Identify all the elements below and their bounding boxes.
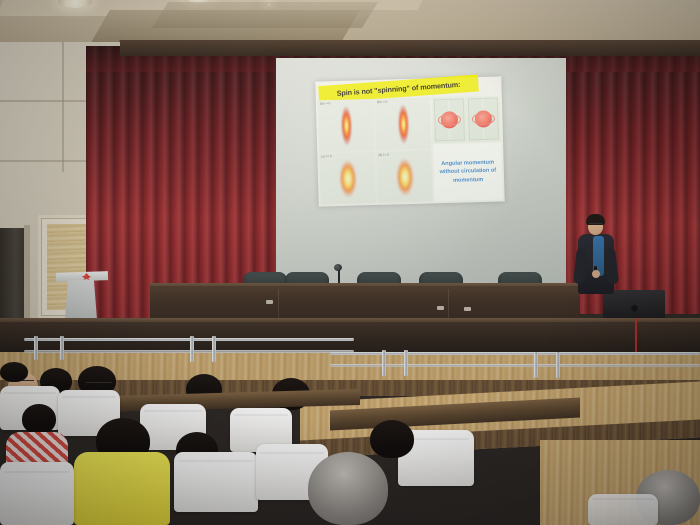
spin-ring-icon	[438, 114, 461, 127]
audience-head	[22, 404, 56, 434]
heatmap-cell-label: (d) t = 0	[378, 153, 389, 157]
spin-diagram-panels	[432, 95, 501, 143]
stage-railing-bar	[24, 338, 354, 341]
spin-ring-icon	[472, 113, 495, 126]
heatmap-cell-label: (c) t = 0	[321, 154, 331, 158]
table-clip	[437, 306, 444, 310]
railing-post	[404, 350, 408, 376]
audience-glasses-icon	[86, 382, 112, 385]
lecture-hall-photo: Spin is not "spinning" of momentum: (a) …	[0, 0, 700, 525]
heatmap-cell: (a) t = 0	[318, 99, 374, 152]
wall-panel-line	[62, 42, 64, 172]
heatmap-cell: (d) t = 0	[376, 150, 432, 203]
curtain-pelmet	[120, 40, 700, 56]
audience-chair-back	[174, 452, 258, 512]
audience-head	[0, 362, 28, 382]
presenter-hand	[592, 270, 600, 278]
railing-post	[534, 352, 538, 378]
audience-chair-back	[0, 462, 74, 525]
heatmap-blob	[389, 156, 420, 197]
heatmap-blob	[389, 100, 416, 147]
audience-head	[308, 452, 388, 525]
heatmap-grid: (a) t = 0 (b) t = 0 (c) t = 0 (d) t = 0	[318, 97, 433, 204]
heatmap-blob	[332, 102, 359, 149]
railing-post	[382, 350, 386, 376]
railing-post	[212, 336, 216, 362]
slide-annotation-text: Angular momentum without circulation of …	[435, 158, 502, 185]
spin-panel	[468, 98, 499, 141]
spin-panel	[434, 98, 465, 141]
heatmap-blob	[332, 158, 363, 199]
table-clip	[266, 300, 273, 304]
audience-yellow-top	[74, 452, 170, 525]
heatmap-cell: (c) t = 0	[319, 152, 375, 205]
presenter-glasses-icon	[589, 223, 602, 227]
railing-post	[190, 336, 194, 362]
heatmap-cell: (b) t = 0	[375, 97, 431, 150]
railing-post	[556, 352, 560, 378]
ceiling-soffit	[152, 2, 378, 28]
microphone-icon	[334, 264, 342, 271]
heatmap-cell-label: (a) t = 0	[320, 101, 331, 105]
audience-chair-back	[588, 494, 658, 525]
audience-head	[370, 420, 414, 458]
slide-annotation-box: Angular momentum without circulation of …	[433, 142, 503, 201]
slide-title-text: Spin is not "spinning" of momentum:	[336, 80, 460, 98]
railing-post	[60, 336, 64, 360]
table-clip	[464, 307, 471, 311]
heatmap-cell-label: (b) t = 0	[377, 100, 388, 104]
railing-post	[34, 336, 38, 360]
projected-slide: Spin is not "spinning" of momentum: (a) …	[315, 76, 504, 206]
stage-railing-bar	[24, 350, 354, 353]
